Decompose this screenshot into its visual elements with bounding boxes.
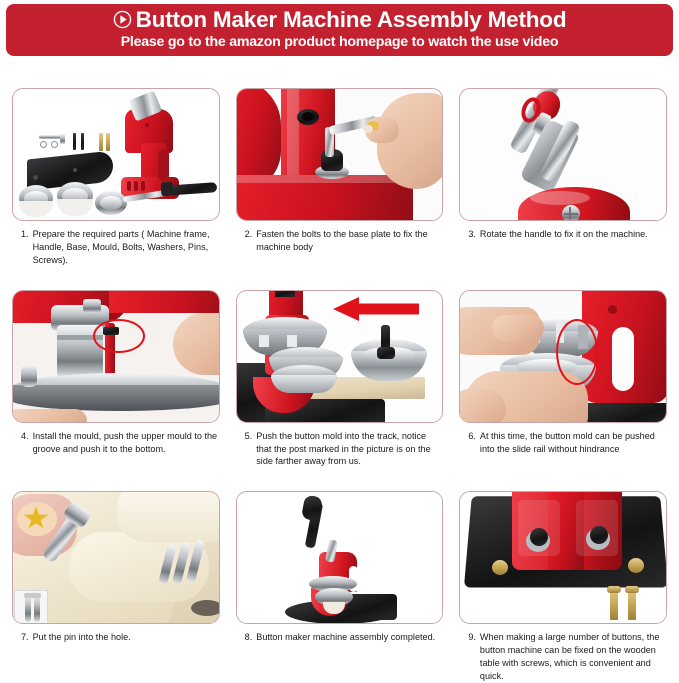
step-cell-4: 4. Install the mould, push the upper mou… <box>4 284 228 486</box>
page-title: Button Maker Machine Assembly Method <box>136 8 567 32</box>
step-number-9: 9. <box>468 631 476 683</box>
step-image-6 <box>459 290 667 423</box>
step-caption-3: 3. Rotate the handle to fix it on the ma… <box>459 228 667 241</box>
step-text-9: When making a large number of buttons, t… <box>480 631 667 683</box>
step-text-1: Prepare the required parts ( Machine fra… <box>33 228 220 267</box>
step-number-1: 1. <box>21 228 29 267</box>
step-image-5 <box>236 290 444 423</box>
step-cell-5: 5. Push the button mold into the track, … <box>228 284 452 486</box>
header-subtitle: Please go to the amazon product homepage… <box>12 34 667 50</box>
step-text-7: Put the pin into the hole. <box>33 631 220 644</box>
step-caption-2: 2. Fasten the bolts to the base plate to… <box>236 228 444 254</box>
play-circle-icon <box>113 10 132 29</box>
step-cell-1: 1. Prepare the required parts ( Machine … <box>4 82 228 284</box>
step-image-1 <box>12 88 220 221</box>
step-number-8: 8. <box>245 631 253 644</box>
step-cell-3: 3. Rotate the handle to fix it on the ma… <box>451 82 675 284</box>
step-number-5: 5. <box>245 430 253 469</box>
annotation-ellipse-step6 <box>556 319 598 385</box>
step-caption-7: 7. Put the pin into the hole. <box>12 631 220 644</box>
step-cell-6: 6. At this time, the button mold can be … <box>451 284 675 486</box>
step-number-2: 2. <box>245 228 253 254</box>
annotation-arrow-step5 <box>333 297 419 321</box>
step-cell-2: 2. Fasten the bolts to the base plate to… <box>228 82 452 284</box>
step-text-2: Fasten the bolts to the base plate to fi… <box>256 228 443 254</box>
header-title-row: Button Maker Machine Assembly Method <box>12 8 667 32</box>
step-cell-8: 8. Button maker machine assembly complet… <box>228 485 452 683</box>
step-number-6: 6. <box>468 430 476 456</box>
step-cell-9: 9. When making a large number of buttons… <box>451 485 675 683</box>
step-caption-6: 6. At this time, the button mold can be … <box>459 430 667 456</box>
step-number-4: 4. <box>21 430 29 456</box>
step-caption-5: 5. Push the button mold into the track, … <box>236 430 444 469</box>
step-text-6: At this time, the button mold can be pus… <box>480 430 667 456</box>
step-text-3: Rotate the handle to fix it on the machi… <box>480 228 667 241</box>
step-caption-9: 9. When making a large number of buttons… <box>459 631 667 683</box>
step-number-7: 7. <box>21 631 29 644</box>
step-number-3: 3. <box>468 228 476 241</box>
step-image-9 <box>459 491 667 624</box>
step-caption-8: 8. Button maker machine assembly complet… <box>236 631 444 644</box>
step-text-8: Button maker machine assembly completed. <box>256 631 443 644</box>
annotation-ellipse-step4 <box>93 319 145 353</box>
step-caption-1: 1. Prepare the required parts ( Machine … <box>12 228 220 267</box>
step-image-3 <box>459 88 667 221</box>
instruction-sheet: Button Maker Machine Assembly Method Ple… <box>0 4 679 683</box>
step-image-4 <box>12 290 220 423</box>
header-banner: Button Maker Machine Assembly Method Ple… <box>6 4 673 56</box>
steps-grid: 1. Prepare the required parts ( Machine … <box>0 82 679 683</box>
step7-inset-thumbnail <box>14 590 48 624</box>
step-image-8 <box>236 491 444 624</box>
step-image-2 <box>236 88 444 221</box>
step-cell-7: 7. Put the pin into the hole. <box>4 485 228 683</box>
step-caption-4: 4. Install the mould, push the upper mou… <box>12 430 220 456</box>
step-text-5: Push the button mold into the track, not… <box>256 430 443 469</box>
step-text-4: Install the mould, push the upper mould … <box>33 430 220 456</box>
step-image-7 <box>12 491 220 624</box>
